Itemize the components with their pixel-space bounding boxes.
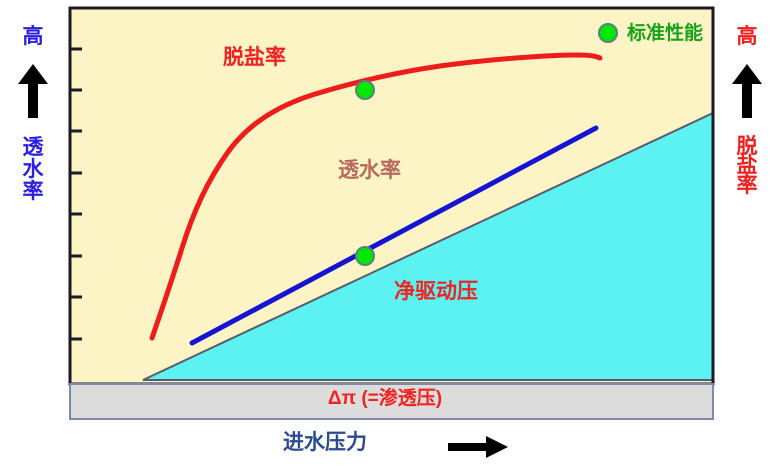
left-axis-label: 透水率 bbox=[22, 137, 44, 203]
salt-rejection-label: 脱盐率 bbox=[223, 47, 286, 68]
standard-performance-marker-ndp bbox=[356, 247, 374, 265]
right-axis-label: 脱盐率 bbox=[736, 137, 758, 195]
left-axis-group: 高 透水率 bbox=[2, 12, 64, 272]
x-axis-label: 进水压力 bbox=[283, 432, 367, 453]
standard-performance-marker-rejection bbox=[356, 81, 374, 99]
left-axis-high-label: 高 bbox=[2, 20, 64, 50]
right-arrow-icon bbox=[448, 435, 508, 459]
up-arrow-icon bbox=[727, 64, 767, 118]
right-axis-group: 高 脱盐率 bbox=[724, 12, 770, 272]
up-arrow-icon bbox=[13, 64, 53, 118]
water-permeability-label: 透水率 bbox=[338, 160, 401, 181]
right-axis-high-label: 高 bbox=[724, 20, 770, 50]
net-driving-pressure-label: 净驱动压 bbox=[394, 281, 478, 302]
osmotic-pressure-label: Δπ (=渗透压) bbox=[0, 389, 770, 408]
legend-marker-icon bbox=[599, 24, 617, 42]
legend-label: 标准性能 bbox=[627, 24, 703, 43]
chart-figure: 高 透水率 高 脱盐率 脱盐率 透水率 净驱动压 Δπ (=渗透压) 标准性能 … bbox=[0, 0, 770, 467]
